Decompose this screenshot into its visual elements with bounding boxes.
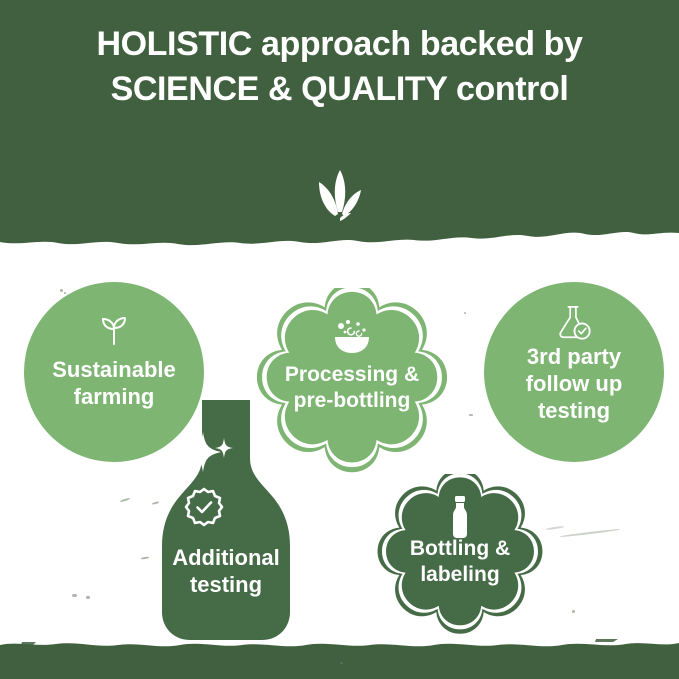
speckle [340,662,343,664]
milk-bottle-icon [448,496,472,538]
speckle [546,526,564,530]
step-processing-pre-bottling[interactable]: Processing & pre-bottling [254,288,450,484]
footer-band [0,631,679,679]
page-title: HOLISTIC approach backed by SCIENCE & QU… [0,22,679,112]
sparkles-icon [176,416,240,480]
footer-band-shape [0,643,679,679]
step-bottling-labeling[interactable]: Bottling & labeling [375,474,545,644]
badge-check-icon [182,486,226,530]
bowl-steam-icon [331,318,373,354]
speckle [572,610,575,613]
speckle [560,528,620,537]
speckle [86,596,90,599]
speckle [464,312,466,314]
flask-check-icon [555,304,593,342]
infographic-canvas: HOLISTIC approach backed by SCIENCE & QU… [0,0,679,679]
speckle [141,556,149,559]
speckle [469,414,473,416]
sprout-icon [95,312,133,350]
speckle [120,498,130,503]
speckle [72,594,77,597]
leaf-sprig-icon [310,168,370,226]
step-third-party-testing[interactable]: 3rd party follow up testing [484,282,664,462]
